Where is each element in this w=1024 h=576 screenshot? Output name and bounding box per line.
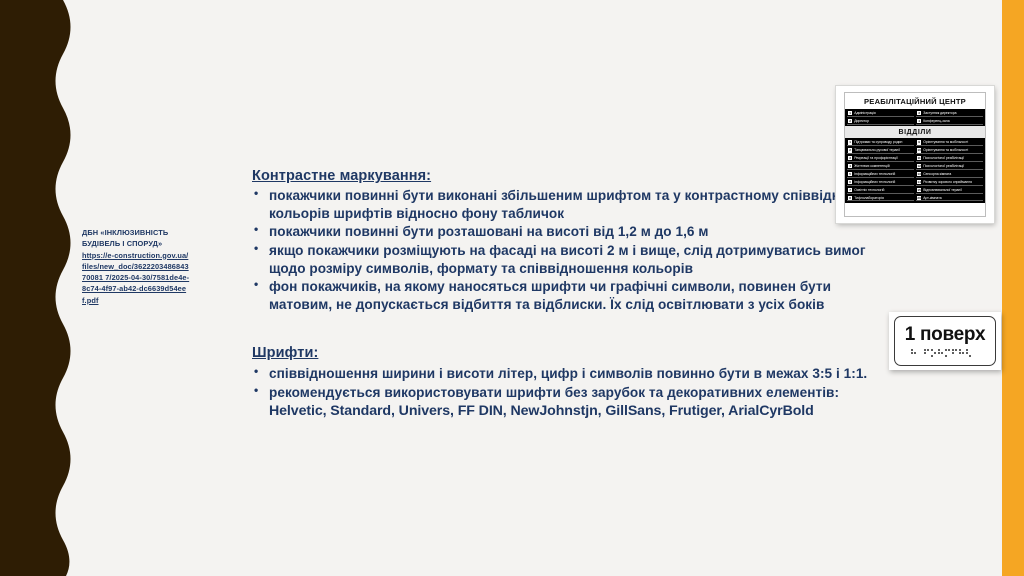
sign-cell: 1 Адміністрація <box>847 111 914 117</box>
sign-label: Освітніх технологій <box>854 188 884 192</box>
list-item-text: рекомендується використовувати шрифти бе… <box>269 385 839 400</box>
sign-label: Життєвих компетенцій <box>854 164 889 168</box>
sign-number: 8 <box>848 196 852 200</box>
list-item: якщо покажчики розміщують на фасаді на в… <box>252 242 892 277</box>
sign-label: Арт-кімната <box>923 196 941 200</box>
sign-label: Орієнтування та мобільності <box>923 140 968 144</box>
sign-label: Відновлювальної терапії <box>923 188 962 192</box>
sign-cell: 10Орієнтування та мобільності <box>916 148 983 154</box>
sign-number: 1 <box>848 111 852 115</box>
list-item: фон покажчиків, на якому наносяться шриф… <box>252 278 892 313</box>
table-row: 8Тифлолабораторія 20Арт-кімната <box>847 195 983 201</box>
sign-board: РЕАБІЛІТАЦІЙНИЙ ЦЕНТР 1 Адміністрація 3 … <box>844 92 986 217</box>
table-row: 2 Директор 4 Конференц-зала <box>847 118 983 124</box>
sign-cell: 5Інформаційних технологій <box>847 171 914 177</box>
section1-bullet-list: покажчики повинні бути виконані збільшен… <box>252 187 892 314</box>
sign-number: 4 <box>917 119 921 123</box>
section2-heading: Шрифти: <box>252 345 892 361</box>
sign-cell: 2 Директор <box>847 118 914 124</box>
list-item: покажчики повинні бути розташовані на ви… <box>252 223 892 241</box>
sign-cell: 4Життєвих компетенцій <box>847 163 914 169</box>
sign-label: Інформаційних технологій <box>854 180 895 184</box>
source-reference: ДБН «ІНКЛЮЗИВНІСТЬ БУДІВЕЛЬ І СПОРУД» ht… <box>82 227 190 306</box>
sign-number: 3 <box>917 111 921 115</box>
sign-label: Розвитку зорового сприймання <box>923 180 972 184</box>
sign-cell: 1Підтримки та супроводу родин <box>847 140 914 146</box>
sign-label: Заступник директора <box>923 111 956 115</box>
sign-cell: 3 Заступник директора <box>916 111 983 117</box>
sign-label: Адміністрація <box>854 111 876 115</box>
list-item: рекомендується використовувати шрифти бе… <box>252 384 892 420</box>
table-row: 7Освітніх технологій 15Відновлювальної т… <box>847 187 983 193</box>
sign-cell: 20Арт-кімната <box>916 195 983 201</box>
slide-canvas: ДБН «ІНКЛЮЗИВНІСТЬ БУДІВЕЛЬ І СПОРУД» ht… <box>0 0 1024 576</box>
sign-number: 10 <box>917 148 921 152</box>
sign-cell: 3Рекреації та профорієнтації <box>847 156 914 162</box>
sign-label: Тифлолабораторія <box>854 196 884 200</box>
table-row: 1 Адміністрація 3 Заступник директора <box>847 111 983 117</box>
sign-number: 13 <box>917 172 921 176</box>
rehab-centre-sign-photo: РЕАБІЛІТАЦІЙНИЙ ЦЕНТР 1 Адміністрація 3 … <box>836 86 994 223</box>
sign-label: Психологічної реабілітації <box>923 164 964 168</box>
floor-sign-plate: 1 поверх <box>889 312 1001 370</box>
sign-label: Психологічної реабілітації <box>923 156 964 160</box>
sign-number: 9 <box>917 140 921 144</box>
sign-cell: 6Інформаційних технологій <box>847 179 914 185</box>
list-item: покажчики повинні бути виконані збільшен… <box>252 187 892 222</box>
section-fonts: Шрифти: співвідношення ширини і висоти л… <box>252 345 892 421</box>
section-contrast-marking: Контрастне маркування: покажчики повинні… <box>252 168 892 314</box>
sign-title: РЕАБІЛІТАЦІЙНИЙ ЦЕНТР <box>845 93 985 109</box>
sign-number: 11 <box>917 156 921 160</box>
sign-cell: 2Танцювально-рухової терапії <box>847 148 914 154</box>
sign-cell: 11Психологічної реабілітації <box>916 156 983 162</box>
sign-department-rows: 1Підтримки та супроводу родин 9Орієнтува… <box>845 138 985 203</box>
sign-label: Танцювально-рухової терапії <box>854 148 900 152</box>
sign-cell: 8Тифлолабораторія <box>847 195 914 201</box>
sign-cell: 7Освітніх технологій <box>847 187 914 193</box>
accent-bar-right <box>1002 0 1024 576</box>
sign-number: 20 <box>917 196 921 200</box>
sign-number: 3 <box>848 156 852 160</box>
section1-heading: Контрастне маркування: <box>252 168 892 184</box>
sign-number: 4 <box>848 164 852 168</box>
sign-number: 2 <box>848 119 852 123</box>
slide-content: Контрастне маркування: покажчики повинні… <box>252 168 892 423</box>
sign-cell: 12Психологічної реабілітації <box>916 163 983 169</box>
braille-dots <box>909 348 981 357</box>
reference-link[interactable]: https://e-construction.gov.ua/files/new_… <box>82 250 190 306</box>
table-row: 4Життєвих компетенцій 12Психологічної ре… <box>847 163 983 169</box>
decorative-wave-band <box>0 0 90 576</box>
sign-number: 5 <box>848 172 852 176</box>
sign-top-rows: 1 Адміністрація 3 Заступник директора 2 … <box>845 109 985 126</box>
sign-cell: 14Розвитку зорового сприймання <box>916 179 983 185</box>
table-row: 1Підтримки та супроводу родин 9Орієнтува… <box>847 140 983 146</box>
sign-number: 7 <box>848 188 852 192</box>
section2-bullet-list: співвідношення ширини і висоти літер, ци… <box>252 365 892 421</box>
recommended-font-list: Helvetic, Standard, Univers, FF DIN, New… <box>269 402 892 420</box>
table-row: 3Рекреації та профорієнтації 11Психологі… <box>847 156 983 162</box>
sign-label: Конференц-зала <box>923 119 949 123</box>
reference-title: ДБН «ІНКЛЮЗИВНІСТЬ БУДІВЕЛЬ І СПОРУД» <box>82 227 190 250</box>
sign-number: 1 <box>848 140 852 144</box>
table-row: 2Танцювально-рухової терапії 10Орієнтува… <box>847 148 983 154</box>
sign-label: Орієнтування та мобільності <box>923 148 968 152</box>
sign-subheading: ВІДДІЛИ <box>845 126 985 138</box>
sign-label: Інформаційних технологій <box>854 172 895 176</box>
sign-cell: 9Орієнтування та мобільності <box>916 140 983 146</box>
sign-label: Підтримки та супроводу родин <box>854 140 902 144</box>
sign-number: 6 <box>848 180 852 184</box>
list-item: співвідношення ширини і висоти літер, ци… <box>252 365 892 383</box>
sign-cell: 15Відновлювальної терапії <box>916 187 983 193</box>
sign-cell: 13Сенсорна кімната <box>916 171 983 177</box>
sign-label: Директор <box>854 119 869 123</box>
sign-label: Рекреації та профорієнтації <box>854 156 898 160</box>
sign-cell: 4 Конференц-зала <box>916 118 983 124</box>
table-row: 5Інформаційних технологій 13Сенсорна кім… <box>847 171 983 177</box>
sign-number: 2 <box>848 148 852 152</box>
floor-plate-frame: 1 поверх <box>894 316 996 366</box>
table-row: 6Інформаційних технологій 14Розвитку зор… <box>847 179 983 185</box>
sign-label: Сенсорна кімната <box>923 172 951 176</box>
floor-label: 1 поверх <box>895 324 995 346</box>
sign-number: 14 <box>917 180 921 184</box>
sign-number: 12 <box>917 164 921 168</box>
sign-number: 15 <box>917 188 921 192</box>
